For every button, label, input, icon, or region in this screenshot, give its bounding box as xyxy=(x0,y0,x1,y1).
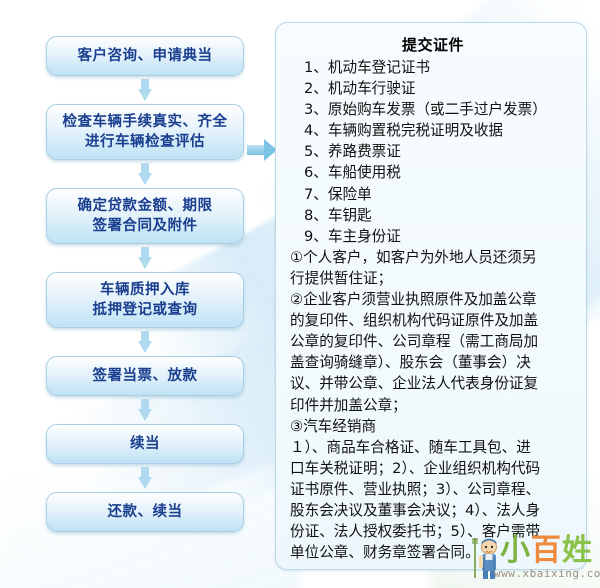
flow-node-label: 签署当票、放款 xyxy=(53,366,237,386)
docs-panel-body: 1、机动车登记证书2、机动车行驶证3、原始购车发票（或二手过户发票）4、车辆购置… xyxy=(290,57,576,563)
doc-line: 8、车钥匙 xyxy=(290,205,576,226)
flow-node-label: 进行车辆检查评估 xyxy=(53,132,237,152)
docs-panel-title: 提交证件 xyxy=(290,34,576,56)
arrow-down-glyph xyxy=(138,467,153,489)
node-inspect[interactable]: 检查车辆手续真实、齐全进行车辆检查评估 xyxy=(46,104,244,160)
process-flowchart: 客户咨询、申请典当检查车辆手续真实、齐全进行车辆检查评估确定贷款金额、期限签署合… xyxy=(46,36,246,532)
arrow-down-icon xyxy=(46,396,244,424)
site-watermark: 小百姓 www.xbaixing.com xyxy=(472,534,598,584)
arrow-down-glyph xyxy=(138,247,153,269)
arrow-down-glyph xyxy=(138,331,153,353)
arrow-down-glyph xyxy=(138,79,153,101)
watermark-url: www.xbaixing.com xyxy=(494,567,600,580)
flow-node-label: 还款、续当 xyxy=(53,502,237,522)
required-documents-panel: 提交证件 1、机动车登记证书2、机动车行驶证3、原始购车发票（或二手过户发票）4… xyxy=(275,22,587,570)
arrow-down-icon xyxy=(46,160,244,188)
watermark-char-2: 百 xyxy=(531,533,562,568)
node-repay[interactable]: 还款、续当 xyxy=(46,492,244,532)
node-renew[interactable]: 续当 xyxy=(46,424,244,464)
arrow-down-icon xyxy=(46,244,244,272)
watermark-char-1: 小 xyxy=(500,533,531,568)
doc-line: 2、机动车行驶证 xyxy=(290,78,576,99)
flow-node-label: 签署合同及附件 xyxy=(53,216,237,236)
doc-line: 证书原件、营业执照；3）、公司章程、 xyxy=(290,479,576,500)
flow-node-label: 客户咨询、申请典当 xyxy=(53,46,237,66)
doc-line: 5、养路费票证 xyxy=(290,141,576,162)
flow-node-label: 抵押登记或查询 xyxy=(53,300,237,320)
doc-line: 3、原始购车发票（或二手过户发票） xyxy=(290,99,576,120)
arrow-down-icon xyxy=(46,328,244,356)
doc-line: 股东会决议及董事会决议；4）、法人身 xyxy=(290,500,576,521)
doc-line: 印件并加盖公章； xyxy=(290,395,576,416)
watermark-brand: 小百姓 xyxy=(500,534,593,568)
flow-node-label: 确定贷款金额、期限 xyxy=(53,196,237,216)
node-pledge[interactable]: 车辆质押入库抵押登记或查询 xyxy=(46,272,244,328)
doc-line: 7、保险单 xyxy=(290,184,576,205)
flow-node-label: 检查车辆手续真实、齐全 xyxy=(53,112,237,132)
arrow-down-icon xyxy=(46,464,244,492)
doc-line: 9、车主身份证 xyxy=(290,226,576,247)
doc-line: 公章的复印件、公司章程（需工商局加 xyxy=(290,331,576,352)
watermark-char-3: 姓 xyxy=(562,533,593,568)
arrow-right-icon xyxy=(247,139,277,161)
doc-line: 6、车船使用税 xyxy=(290,162,576,183)
node-consult[interactable]: 客户咨询、申请典当 xyxy=(46,36,244,76)
doc-line: 4、车辆购置税完税证明及收据 xyxy=(290,120,576,141)
doc-line: 1、机动车登记证书 xyxy=(290,57,576,78)
doc-line: 行提供暂住证； xyxy=(290,268,576,289)
doc-line: 盖查询骑缝章）、股东会（董事会）决 xyxy=(290,352,576,373)
doc-line: ①个人客户，如客户为外地人员还须另 xyxy=(290,247,576,268)
node-ticket[interactable]: 签署当票、放款 xyxy=(46,356,244,396)
arrow-down-icon xyxy=(46,76,244,104)
doc-line: 议、并带公章、企业法人代表身份证复 xyxy=(290,373,576,394)
arrow-down-glyph xyxy=(138,399,153,421)
doc-line: 的复印件、组织机构代码证原件及加盖 xyxy=(290,310,576,331)
flow-node-label: 续当 xyxy=(53,434,237,454)
doc-line: ③汽车经销商 xyxy=(290,416,576,437)
doc-line: ②企业客户须营业执照原件及加盖公章 xyxy=(290,289,576,310)
doc-line: 口车关税证明；2）、企业组织机构代码 xyxy=(290,458,576,479)
flow-node-label: 车辆质押入库 xyxy=(53,280,237,300)
arrow-down-glyph xyxy=(138,163,153,185)
node-contract[interactable]: 确定贷款金额、期限签署合同及附件 xyxy=(46,188,244,244)
doc-line: １）、商品车合格证、随车工具包、进 xyxy=(290,437,576,458)
